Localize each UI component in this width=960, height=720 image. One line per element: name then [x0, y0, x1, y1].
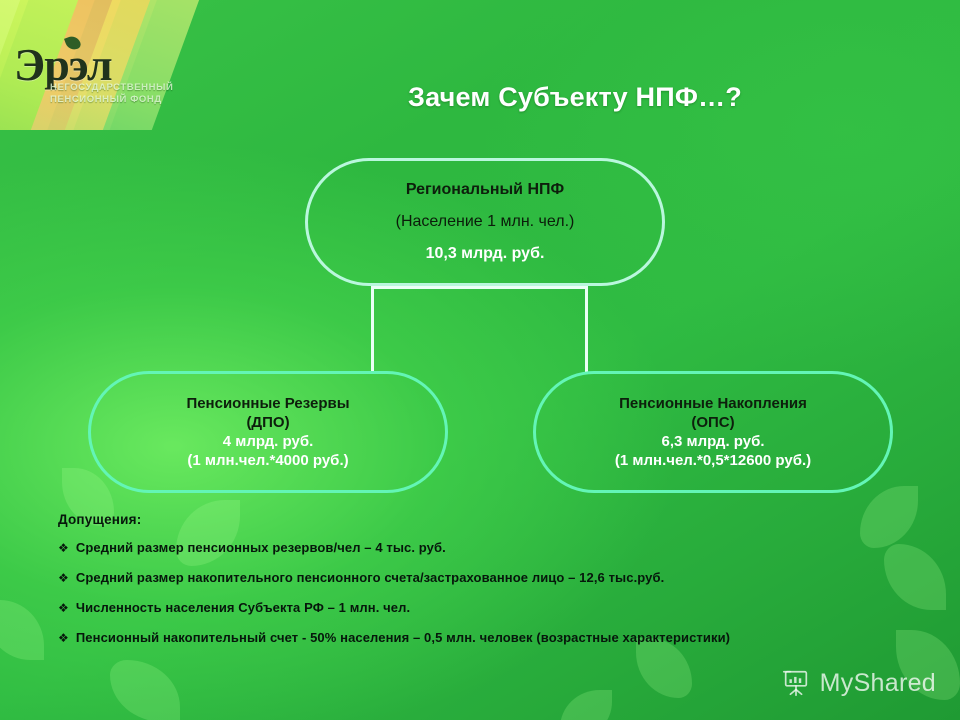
connector-vertical-left — [371, 286, 374, 372]
assumption-text: Средний размер накопительного пенсионног… — [76, 570, 664, 586]
watermark-text: MyShared — [820, 669, 936, 698]
decorative-leaf — [560, 690, 612, 720]
node-subtitle: (Население 1 млн. чел.) — [396, 212, 575, 232]
node-title: Пенсионные Накопления — [619, 394, 807, 413]
connector-horizontal — [371, 286, 588, 289]
assumptions-block: Допущения: ❖ Средний размер пенсионных р… — [58, 512, 918, 660]
node-subtitle: (ОПС) — [691, 413, 734, 432]
slide-canvas: Эрэл НЕГОСУДАРСТВЕННЫЙ ПЕНСИОННЫЙ ФОНД З… — [0, 0, 960, 720]
node-formula: (1 млн.чел.*4000 руб.) — [187, 451, 348, 470]
assumption-text: Численность населения Субъекта РФ – 1 мл… — [76, 600, 410, 616]
diamond-bullet-icon: ❖ — [58, 630, 69, 646]
node-pension-savings[interactable]: Пенсионные Накопления (ОПС) 6,3 млрд. ру… — [533, 371, 893, 493]
assumption-text: Пенсионный накопительный счет - 50% насе… — [76, 630, 730, 646]
assumption-item: ❖ Средний размер пенсионных резервов/чел… — [58, 540, 918, 556]
decorative-leaf — [110, 660, 180, 720]
assumptions-heading: Допущения: — [58, 512, 918, 527]
diamond-bullet-icon: ❖ — [58, 600, 69, 616]
node-title: Региональный НПФ — [406, 180, 564, 200]
node-amount: 4 млрд. руб. — [223, 432, 314, 451]
node-amount: 6,3 млрд. руб. — [661, 432, 764, 451]
diamond-bullet-icon: ❖ — [58, 540, 69, 556]
node-title: Пенсионные Резервы — [186, 394, 349, 413]
assumption-item: ❖ Пенсионный накопительный счет - 50% на… — [58, 630, 918, 646]
node-amount: 10,3 млрд. руб. — [426, 244, 545, 264]
node-regional-npf[interactable]: Региональный НПФ (Население 1 млн. чел.)… — [305, 158, 665, 286]
presentation-board-icon — [781, 668, 811, 698]
slide-title: Зачем Субъекту НПФ…? — [0, 82, 960, 113]
assumption-item: ❖ Численность населения Субъекта РФ – 1 … — [58, 600, 918, 616]
assumption-item: ❖ Средний размер накопительного пенсионн… — [58, 570, 918, 586]
diamond-bullet-icon: ❖ — [58, 570, 69, 586]
connector-vertical-right — [585, 286, 588, 372]
node-formula: (1 млн.чел.*0,5*12600 руб.) — [615, 451, 811, 470]
node-subtitle: (ДПО) — [246, 413, 289, 432]
myshared-watermark: MyShared — [781, 668, 936, 698]
node-pension-reserves[interactable]: Пенсионные Резервы (ДПО) 4 млрд. руб. (1… — [88, 371, 448, 493]
assumption-text: Средний размер пенсионных резервов/чел –… — [76, 540, 446, 556]
decorative-leaf — [0, 600, 44, 660]
